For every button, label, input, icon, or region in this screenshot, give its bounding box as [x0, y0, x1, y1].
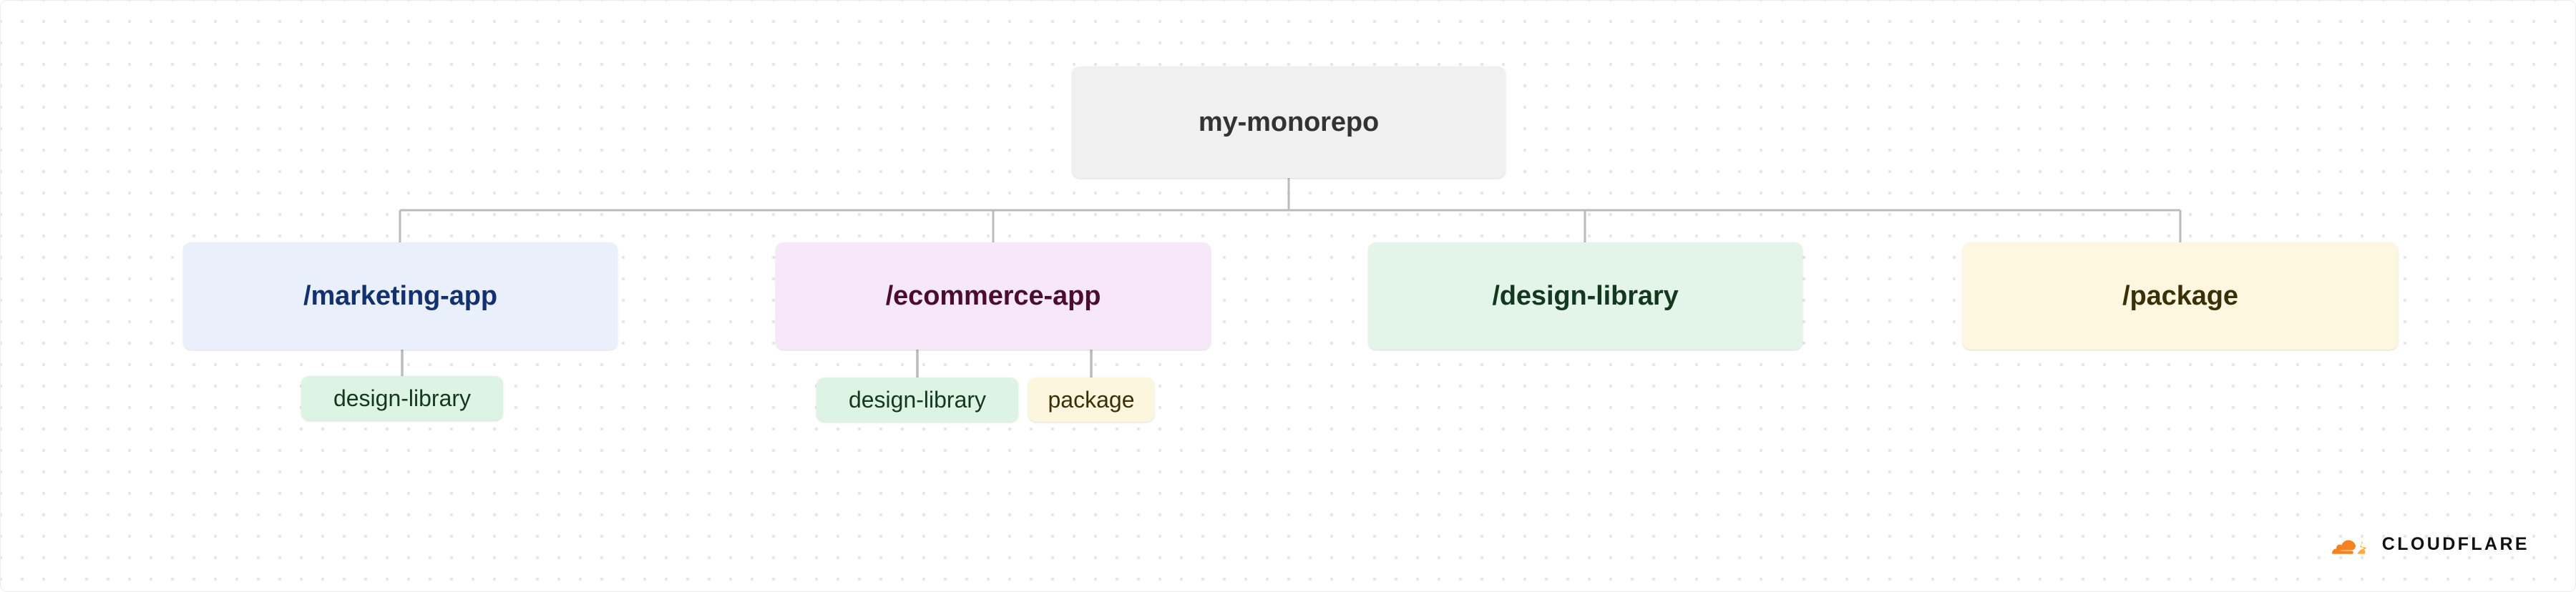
cloudflare-wordmark: CLOUDFLARE — [2382, 536, 2529, 553]
dependency-chip-design-library[interactable]: design-library — [301, 376, 503, 420]
dependency-chip-label: design-library — [333, 385, 471, 412]
dependency-chip-package[interactable]: package — [1028, 378, 1154, 422]
dependency-chip-label: design-library — [849, 387, 986, 413]
node-marketing-app[interactable]: /marketing-app — [183, 242, 618, 350]
node-package[interactable]: /package — [1963, 242, 2398, 350]
node-label: my-monorepo — [1199, 107, 1379, 138]
diagram-canvas: my-monorepo /marketing-app /ecommerce-ap… — [0, 0, 2576, 592]
node-label: /marketing-app — [303, 281, 497, 312]
node-design-library[interactable]: /design-library — [1368, 242, 1802, 350]
node-label: /package — [2122, 281, 2238, 312]
cloudflare-cloud-icon — [2318, 531, 2374, 557]
node-label: /design-library — [1492, 281, 1678, 312]
node-my-monorepo[interactable]: my-monorepo — [1072, 66, 1506, 178]
cloudflare-logo: CLOUDFLARE — [2318, 531, 2529, 557]
node-ecommerce-app[interactable]: /ecommerce-app — [776, 242, 1211, 350]
node-label: /ecommerce-app — [886, 281, 1101, 312]
dependency-chip-label: package — [1048, 387, 1135, 413]
dependency-chip-design-library[interactable]: design-library — [816, 378, 1018, 422]
